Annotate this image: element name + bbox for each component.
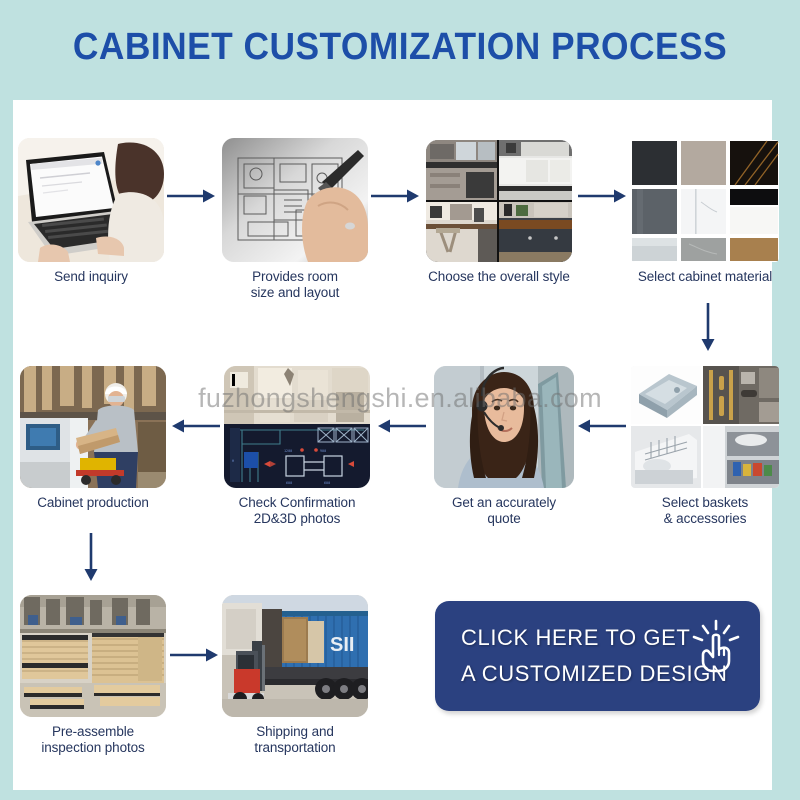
- svg-text:900: 900: [320, 449, 326, 453]
- step-provides-room-size[interactable]: Provides room size and layout: [222, 138, 368, 300]
- step-select-material[interactable]: Select cabinet material: [631, 140, 779, 285]
- woman-headset-image: [434, 366, 574, 488]
- arrow-step4-to-step5: [699, 303, 717, 351]
- svg-text:H: H: [232, 459, 234, 463]
- laptop-inquiry-image: [18, 138, 164, 262]
- infographic-root: CABINET CUSTOMIZATION PROCESS: [0, 0, 800, 800]
- arrow-step8-to-step9: [82, 533, 100, 581]
- arrow-step6-to-step7: [378, 418, 426, 434]
- arrow-step9-to-step10: [170, 647, 218, 663]
- step-cabinet-production[interactable]: Cabinet production: [20, 366, 166, 511]
- arrow-step3-to-step4: [578, 188, 626, 204]
- step-label: Select cabinet material: [631, 269, 779, 285]
- arrow-step5-to-step6: [578, 418, 626, 434]
- step-label: Cabinet production: [20, 495, 166, 511]
- step-label: Select baskets & accessories: [631, 495, 779, 526]
- svg-text:600: 600: [324, 481, 330, 485]
- arrow-step7-to-step8: [172, 418, 220, 434]
- baskets-accessories-image: [631, 366, 779, 488]
- cta-line-1: CLICK HERE TO GET: [461, 625, 690, 651]
- arrow-step2-to-step3: [371, 188, 419, 204]
- svg-text:SII: SII: [330, 634, 354, 656]
- click-hand-icon: [686, 615, 746, 675]
- step-label: Get an accurately quote: [434, 495, 574, 526]
- step-get-quote[interactable]: Get an accurately quote: [434, 366, 574, 526]
- step-send-inquiry[interactable]: Send inquiry: [18, 138, 164, 285]
- step-select-baskets[interactable]: Select baskets & accessories: [631, 366, 779, 526]
- step-label: Send inquiry: [18, 269, 164, 285]
- forklift-container-image: SII: [222, 595, 368, 717]
- cad-2d-3d-image: 1200900 600600 H: [224, 366, 370, 488]
- warehouse-panels-image: [20, 595, 166, 717]
- cta-button[interactable]: CLICK HERE TO GET A CUSTOMIZED DESIGN: [435, 601, 760, 711]
- svg-text:600: 600: [286, 481, 292, 485]
- step-label: Shipping and transportation: [222, 724, 368, 755]
- step-choose-style[interactable]: Choose the overall style: [426, 140, 572, 285]
- factory-production-image: [20, 366, 166, 488]
- step-label: Choose the overall style: [426, 269, 572, 285]
- floor-plan-sketch-image: [222, 138, 368, 262]
- kitchen-style-collage-image: [426, 140, 572, 262]
- step-pre-assemble-inspection[interactable]: Pre-assemble inspection photos: [20, 595, 166, 755]
- step-label: Provides room size and layout: [222, 269, 368, 300]
- step-label: Pre-assemble inspection photos: [20, 724, 166, 755]
- material-swatch-grid-image: [631, 140, 779, 262]
- step-label: Check Confirmation 2D&3D photos: [224, 495, 370, 526]
- step-shipping-transportation[interactable]: SII: [222, 595, 368, 755]
- arrow-step1-to-step2: [167, 188, 215, 204]
- step-check-confirmation[interactable]: 1200900 600600 H Check Confirmation 2D&3…: [224, 366, 370, 526]
- svg-text:1200: 1200: [284, 449, 292, 453]
- page-title: CABINET CUSTOMIZATION PROCESS: [28, 26, 772, 69]
